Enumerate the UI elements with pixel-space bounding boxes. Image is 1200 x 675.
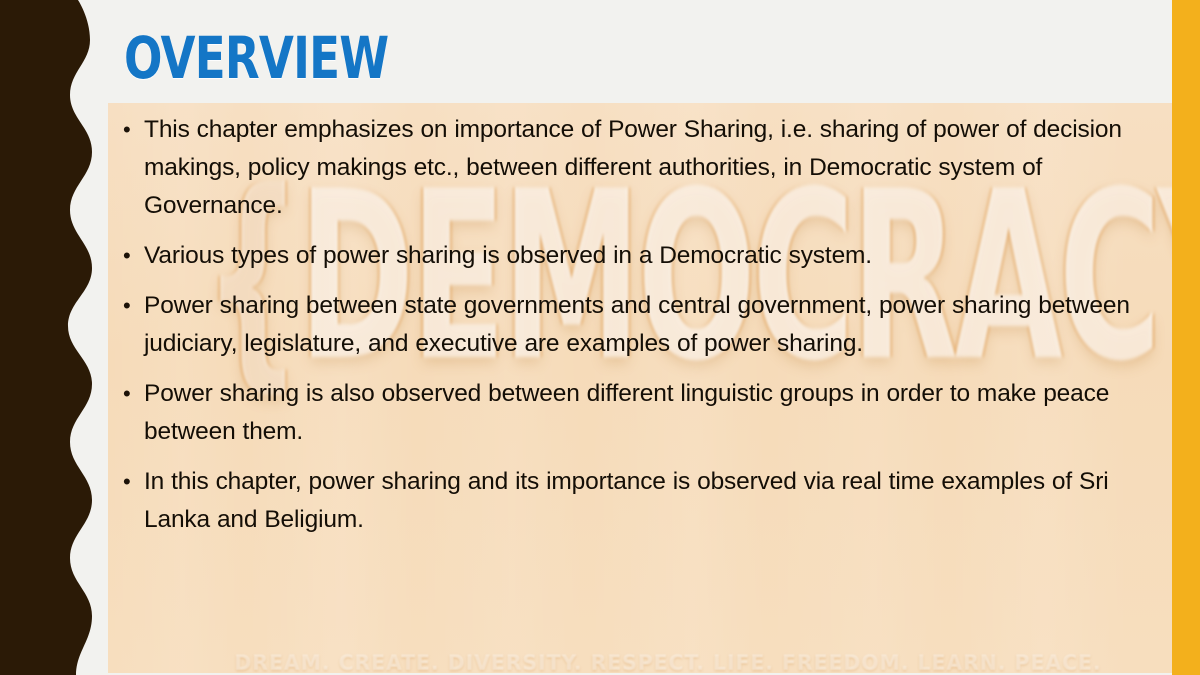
content-panel: {DEMOCRACY} DREAM. CREATE. DIVERSITY. RE…	[108, 103, 1172, 673]
bullet-dot-icon: •	[120, 237, 144, 275]
wavy-edge-decoration	[0, 0, 110, 675]
list-item: • In this chapter, power sharing and its…	[120, 463, 1162, 539]
bullet-text: Various types of power sharing is observ…	[144, 237, 1154, 275]
bullet-list: • This chapter emphasizes on importance …	[120, 111, 1162, 551]
bullet-text: In this chapter, power sharing and its i…	[144, 463, 1154, 539]
bullet-dot-icon: •	[120, 111, 144, 149]
bullet-dot-icon: •	[120, 375, 144, 413]
bullet-dot-icon: •	[120, 287, 144, 325]
accent-bar-right	[1172, 0, 1200, 675]
bullet-text: Power sharing between state governments …	[144, 287, 1154, 363]
list-item: • This chapter emphasizes on importance …	[120, 111, 1162, 225]
bullet-text: This chapter emphasizes on importance of…	[144, 111, 1154, 225]
list-item: • Power sharing between state government…	[120, 287, 1162, 363]
list-item: • Various types of power sharing is obse…	[120, 237, 1162, 275]
bullet-dot-icon: •	[120, 463, 144, 501]
list-item: • Power sharing is also observed between…	[120, 375, 1162, 451]
bullet-text: Power sharing is also observed between d…	[144, 375, 1154, 451]
slide: {DEMOCRACY} DREAM. CREATE. DIVERSITY. RE…	[0, 0, 1200, 675]
page-title: OVERVIEW	[124, 29, 388, 87]
